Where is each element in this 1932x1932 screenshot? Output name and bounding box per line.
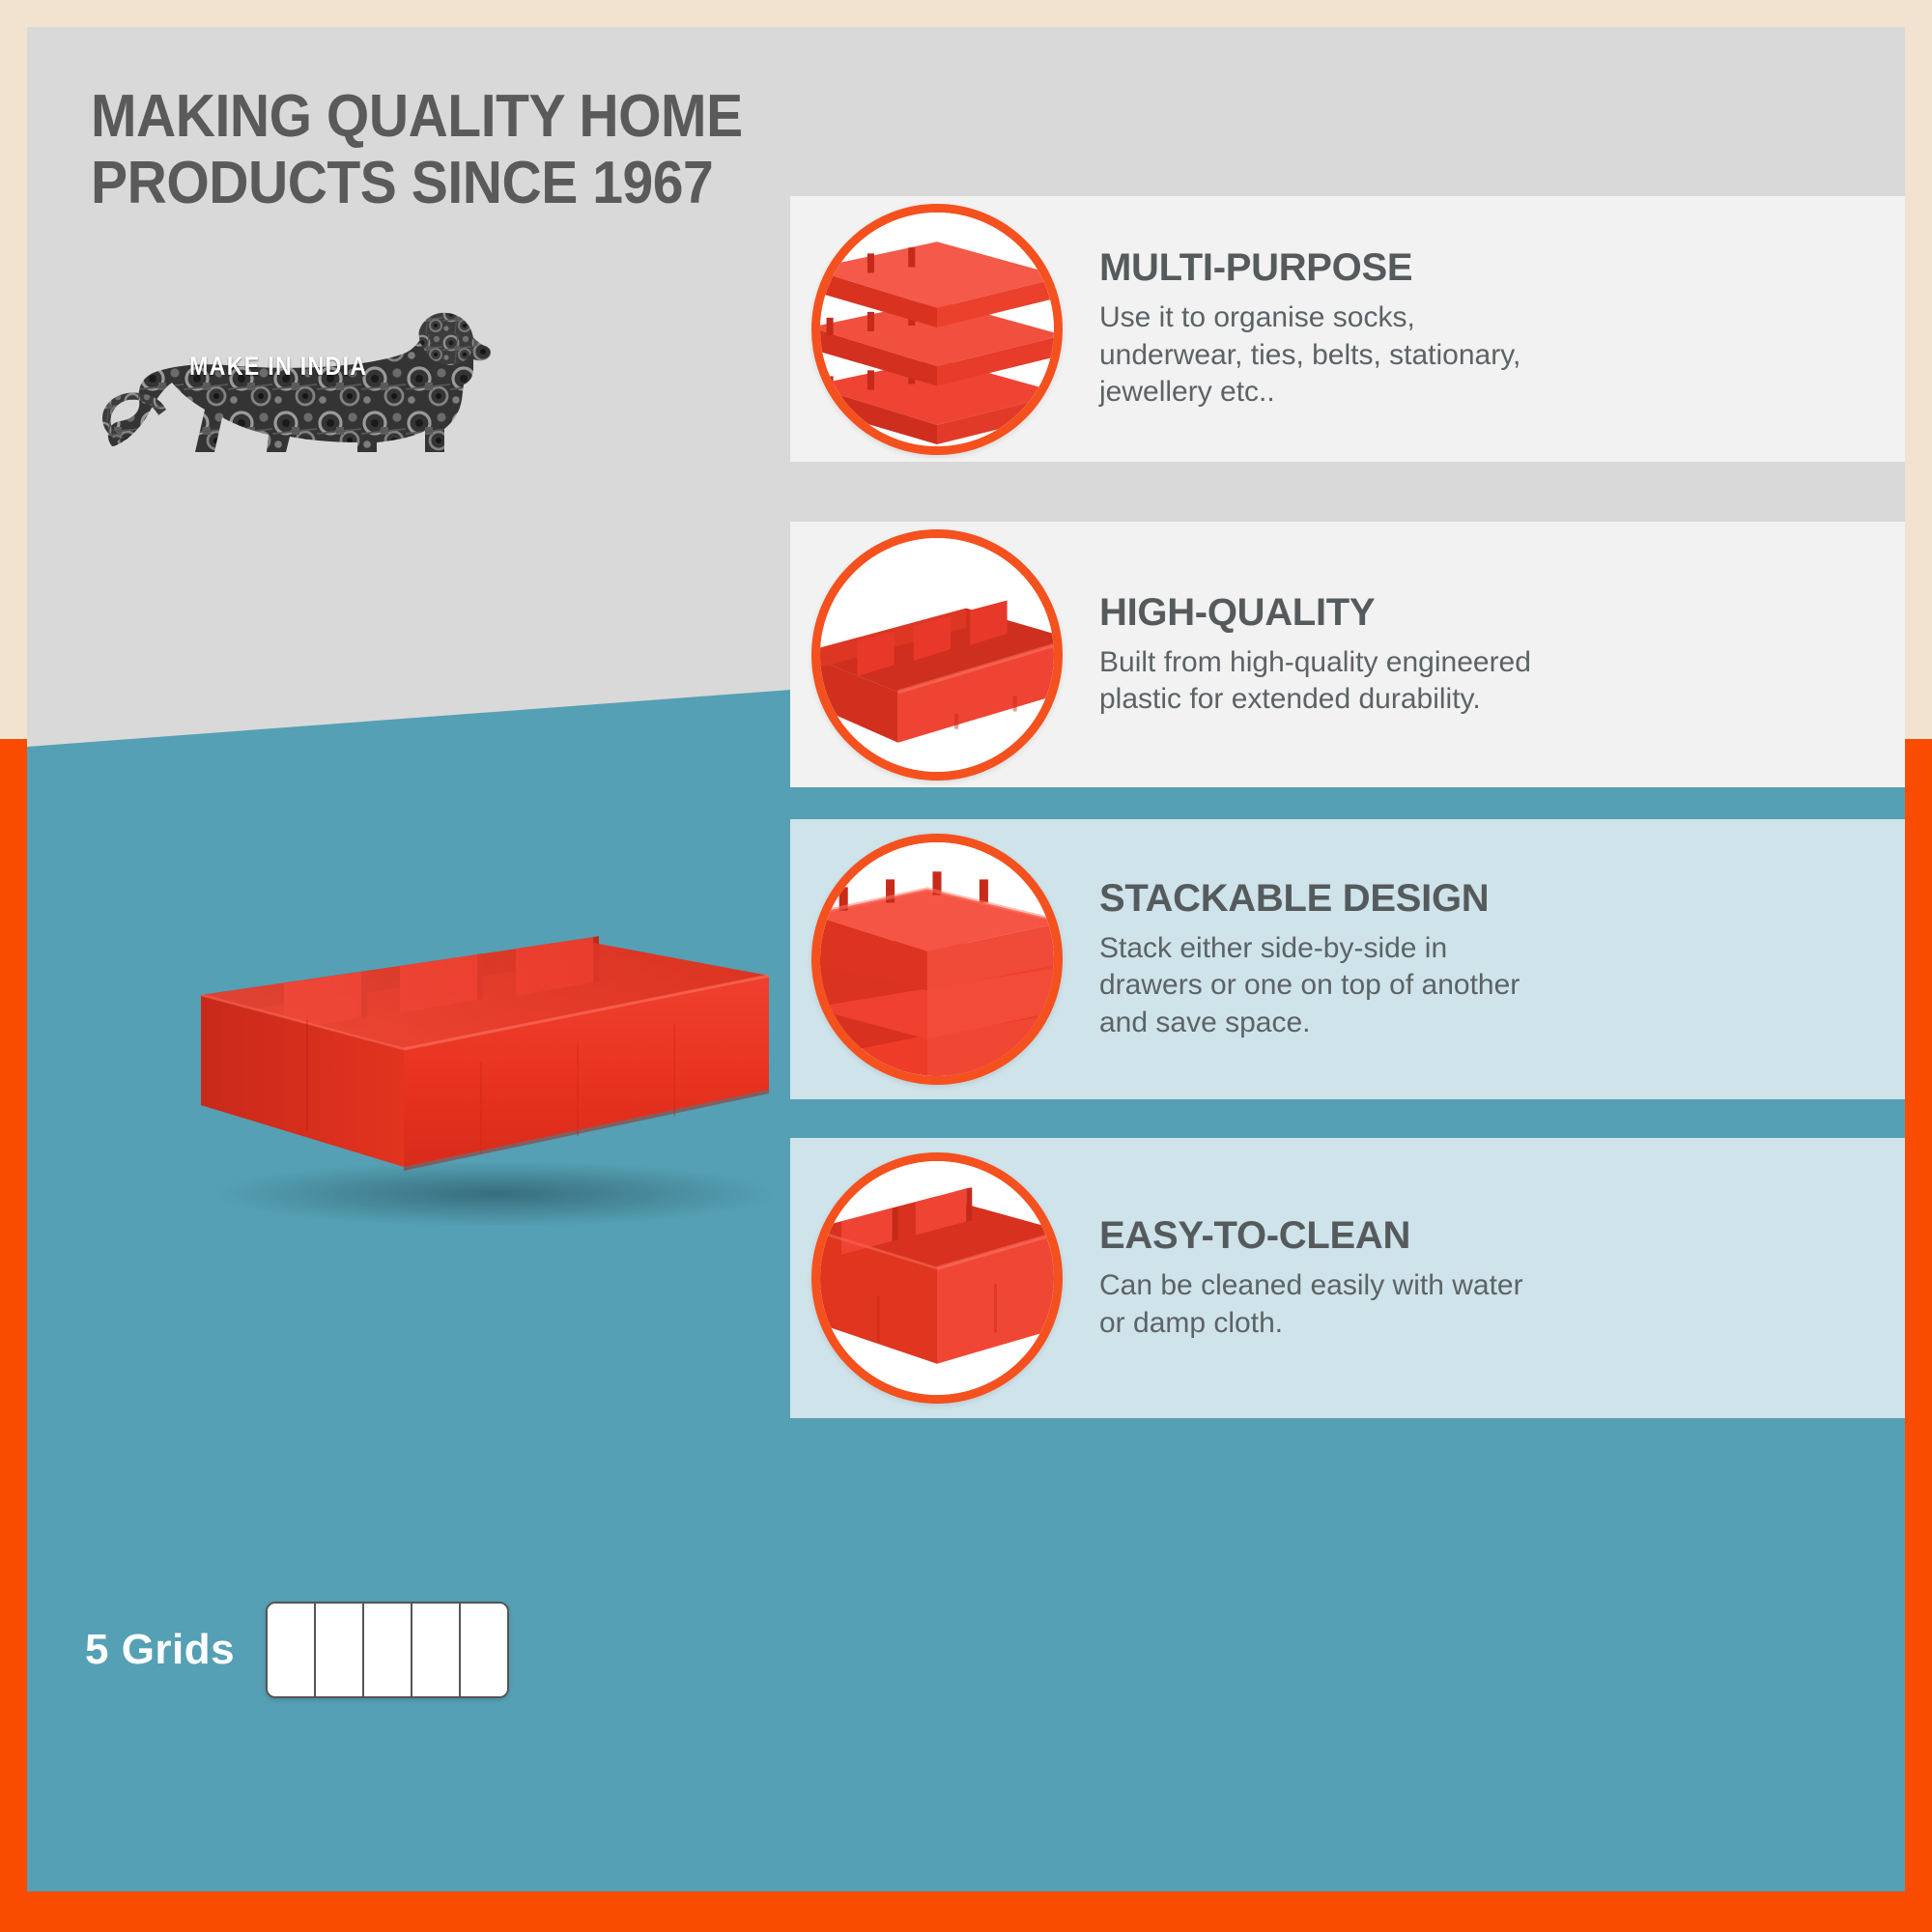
feature-text-stackable-design: STACKABLE DESIGN Stack either side-by-si… — [1099, 877, 1553, 1041]
feature-description: Stack either side-by-side in drawers or … — [1099, 930, 1553, 1041]
stacked-trays-three-rows-icon — [820, 213, 1054, 446]
stacked-boxes-icon — [820, 842, 1054, 1076]
grid-cell — [364, 1604, 412, 1696]
feature-title: STACKABLE DESIGN — [1099, 877, 1553, 921]
single-divider-tray-icon — [820, 538, 1054, 772]
compact-divider-box-icon — [820, 1161, 1054, 1395]
red-plastic-divider-tray-icon — [162, 887, 800, 1225]
feature-image-multi-purpose — [811, 204, 1063, 455]
page-title: MAKING QUALITY HOME PRODUCTS SINCE 1967 — [91, 83, 819, 217]
grid-cell — [316, 1604, 364, 1696]
feature-image-high-quality — [811, 529, 1063, 781]
feature-description: Built from high-quality engineered plast… — [1099, 644, 1553, 719]
feature-description: Can be cleaned easily with water or damp… — [1099, 1267, 1553, 1342]
feature-card-high-quality: HIGH-QUALITY Built from high-quality eng… — [790, 522, 1905, 787]
feature-title: EASY-TO-CLEAN — [1099, 1214, 1553, 1258]
grid-cell — [461, 1604, 507, 1696]
grid-cell — [412, 1604, 461, 1696]
feature-title: HIGH-QUALITY — [1099, 591, 1553, 635]
frame-orange-bottom — [0, 1891, 1932, 1932]
feature-text-high-quality: HIGH-QUALITY Built from high-quality eng… — [1099, 591, 1553, 719]
outer-frame: MAKING QUALITY HOME PRODUCTS SINCE 1967 — [0, 0, 1932, 1932]
feature-card-stackable-design: STACKABLE DESIGN Stack either side-by-si… — [790, 819, 1905, 1099]
logo-caption: MAKE IN INDIA — [189, 352, 367, 382]
feature-image-easy-to-clean — [811, 1152, 1063, 1404]
make-in-india-logo: MAKE IN INDIA — [95, 276, 500, 469]
feature-card-multi-purpose: MULTI-PURPOSE Use it to organise socks, … — [790, 196, 1905, 462]
grid-count-label: 5 Grids — [85, 1626, 235, 1674]
feature-text-easy-to-clean: EASY-TO-CLEAN Can be cleaned easily with… — [1099, 1214, 1553, 1342]
product-hero-image — [162, 887, 800, 1225]
grid-count-indicator: 5 Grids — [85, 1602, 509, 1698]
feature-description: Use it to organise socks, underwear, tie… — [1099, 299, 1553, 411]
grid-cell — [268, 1604, 316, 1696]
infographic-canvas: MAKING QUALITY HOME PRODUCTS SINCE 1967 — [27, 27, 1905, 1891]
feature-title: MULTI-PURPOSE — [1099, 246, 1553, 290]
feature-text-multi-purpose: MULTI-PURPOSE Use it to organise socks, … — [1099, 246, 1553, 411]
grid-cells-icon — [266, 1602, 509, 1698]
feature-card-easy-to-clean: EASY-TO-CLEAN Can be cleaned easily with… — [790, 1138, 1905, 1418]
feature-image-stackable-design — [811, 834, 1063, 1085]
